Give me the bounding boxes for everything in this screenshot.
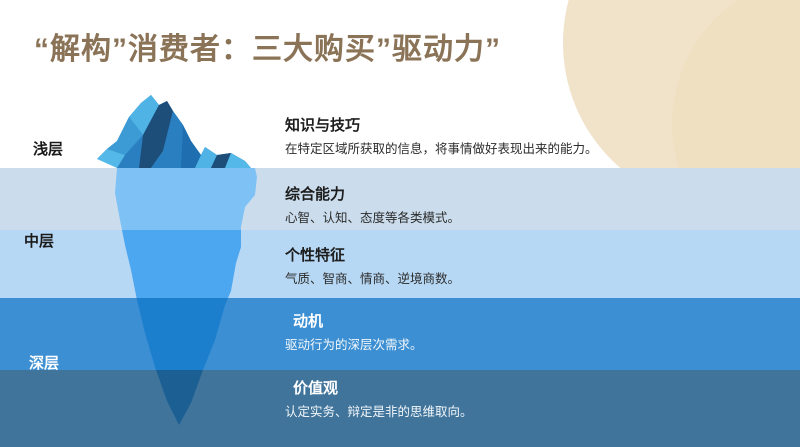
block-heading: 个性特征 xyxy=(285,247,755,266)
block-body: 驱动行为的深层次需求。 xyxy=(285,337,755,353)
content-block-values: 价值观 认定实务、辩定是非的思维取向。 xyxy=(285,380,755,420)
depth-label-shallow: 浅层 xyxy=(33,138,63,159)
block-heading: 综合能力 xyxy=(285,186,755,205)
block-body: 心智、认知、态度等各类模式。 xyxy=(285,210,755,226)
iceberg-underwater-body xyxy=(115,125,257,425)
content-block-knowledge: 知识与技巧 在特定区域所获取的信息，将事情做好表现出来的能力。 xyxy=(285,117,755,157)
block-body: 在特定区域所获取的信息，将事情做好表现出来的能力。 xyxy=(285,141,755,157)
page-title: “解构”消费者：三大购买”驱动力” xyxy=(34,24,501,68)
iceberg-illustration xyxy=(55,95,305,447)
depth-label-deep: 深层 xyxy=(29,352,59,373)
content-block-motivation: 动机 驱动行为的深层次需求。 xyxy=(285,313,755,353)
block-heading: 知识与技巧 xyxy=(285,117,755,136)
block-heading: 价值观 xyxy=(285,380,755,399)
block-body: 认定实务、辩定是非的思维取向。 xyxy=(285,404,755,420)
content-block-personality: 个性特征 气质、智商、情商、逆境商数。 xyxy=(285,247,755,287)
content-block-competence: 综合能力 心智、认知、态度等各类模式。 xyxy=(285,186,755,226)
block-heading: 动机 xyxy=(285,313,755,332)
iceberg-tip xyxy=(97,95,251,168)
depth-label-middle: 中层 xyxy=(24,230,54,251)
infographic-canvas: “解构”消费者：三大购买”驱动力” xyxy=(0,0,800,447)
block-body: 气质、智商、情商、逆境商数。 xyxy=(285,271,755,287)
